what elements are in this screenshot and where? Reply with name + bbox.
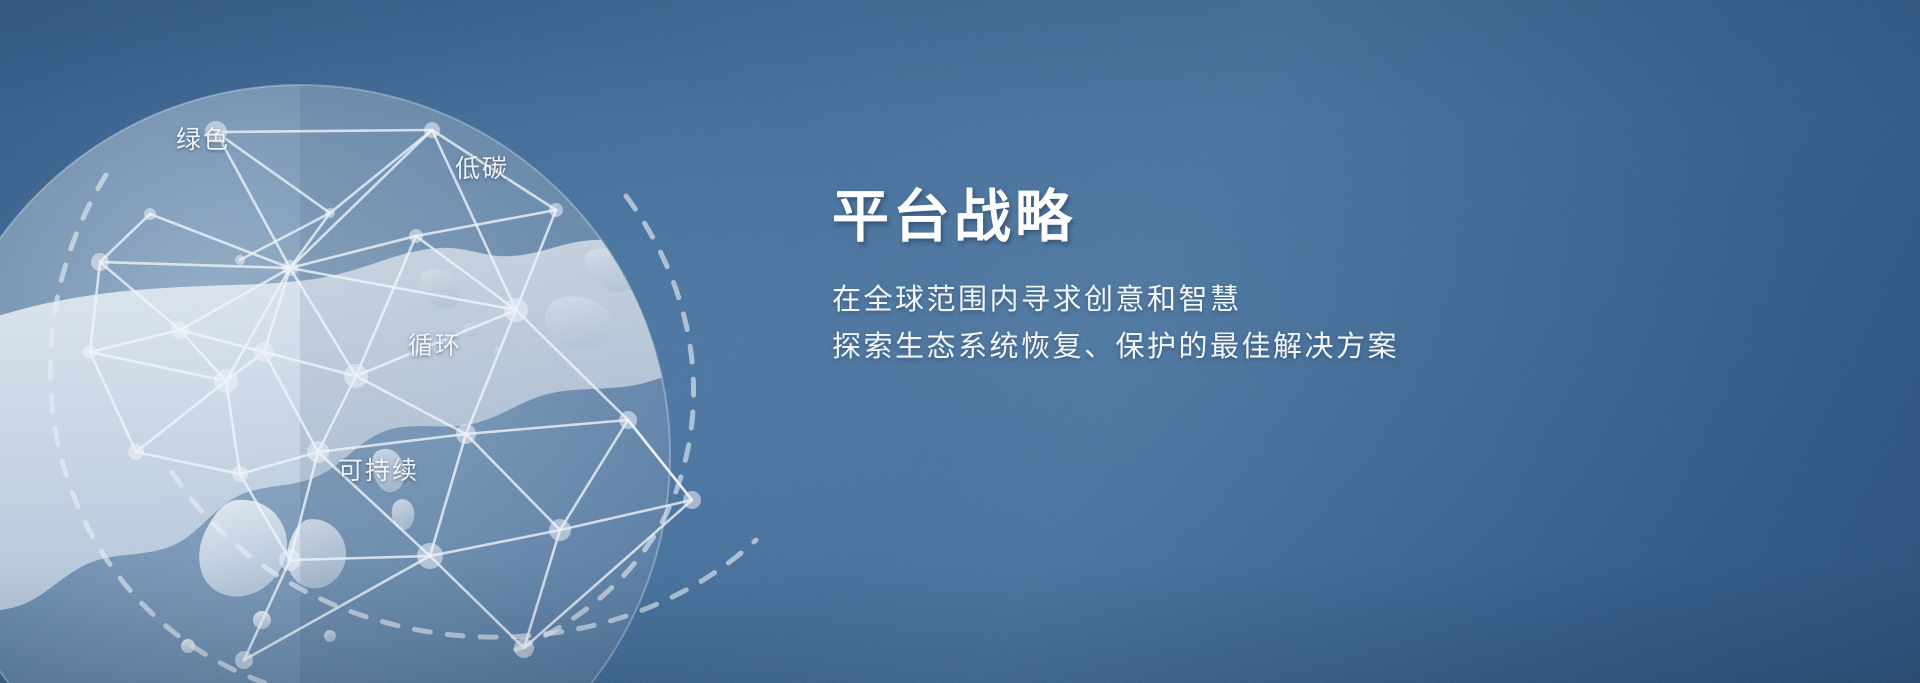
subtitle-line-1: 在全球范围内寻求创意和智慧: [832, 277, 1732, 324]
globe-label-green: 绿色: [176, 128, 230, 153]
subtitle-group: 在全球范围内寻求创意和智慧 探索生态系统恢复、保护的最佳解决方案: [832, 277, 1732, 371]
globe-label-low-carbon: 低碳: [455, 157, 509, 182]
globe-label-sustainable: 可持续: [338, 459, 419, 484]
hero-banner: 绿色 低碳 循环 可持续 平台战略 在全球范围内寻求创意和智慧 探索生态系统恢复…: [0, 0, 1920, 683]
page-title: 平台战略: [832, 186, 1732, 249]
hero-text-block: 平台战略 在全球范围内寻求创意和智慧 探索生态系统恢复、保护的最佳解决方案: [832, 186, 1732, 371]
globe-label-recycle: 循环: [408, 334, 462, 359]
subtitle-line-2: 探索生态系统恢复、保护的最佳解决方案: [832, 324, 1732, 371]
